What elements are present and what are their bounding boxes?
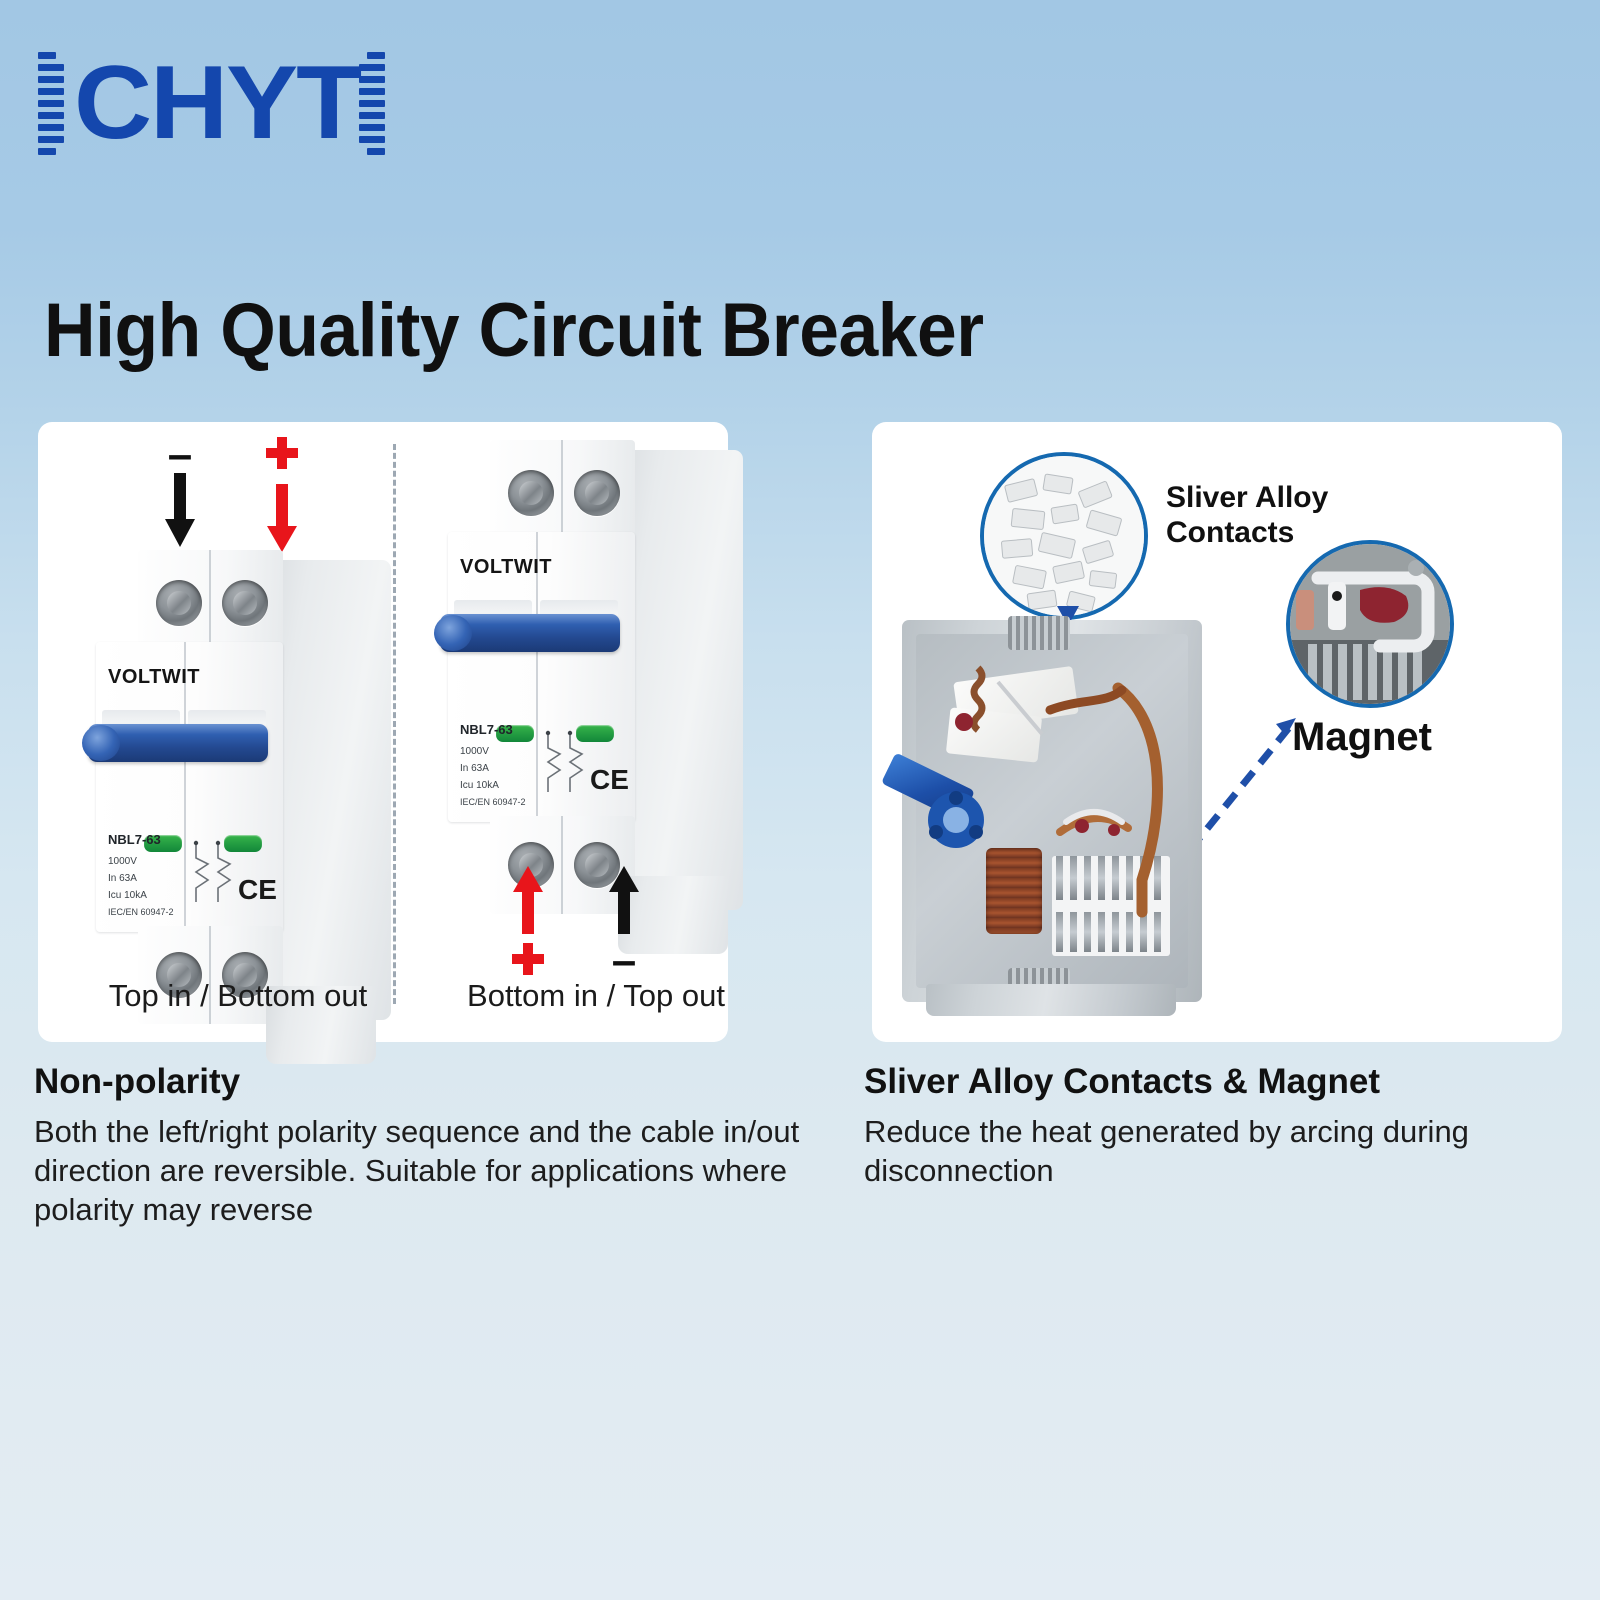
logo-wordmark: CHYT	[74, 56, 360, 152]
breaker-unit-right: VOLTWIT NBL7-63 1000V In 63A Icu 10kA IE…	[438, 440, 743, 960]
spec-line-2-left: In 63A	[108, 873, 137, 884]
spec-line-4-left: IEC/EN 60947-2	[108, 907, 174, 917]
page-title: High Quality Circuit Breaker	[44, 287, 984, 374]
caption-top-in-bottom-out: Top in / Bottom out	[78, 978, 398, 1014]
wiring-diagram-icon-left	[188, 838, 236, 910]
feature-heading-left: Non-polarity	[34, 1062, 240, 1102]
model-label-right: NBL7-63	[460, 722, 513, 737]
arrow-up-black-icon	[606, 864, 642, 936]
spec-line-3-left: Icu 10kA	[108, 890, 147, 901]
spec-line-3-right: Icu 10kA	[460, 780, 499, 791]
arrow-positive-up-right	[506, 864, 550, 984]
arrow-negative-down-left: –	[162, 440, 198, 549]
panel-divider	[393, 444, 396, 1004]
din-rail-clip	[926, 984, 1176, 1016]
arrow-negative-up-right: –	[606, 864, 642, 977]
ce-mark-left: CE	[238, 874, 277, 906]
trip-spring	[938, 660, 1058, 780]
arrow-up-red-icon	[510, 864, 546, 936]
logo-bars-left-icon	[38, 52, 64, 155]
arrow-positive-down-left	[260, 434, 304, 554]
contacts-magnet-illustration-card: Sliver Alloy Contacts Magnet	[872, 422, 1562, 1042]
non-polarity-illustration-card: – VOLTWIT NBL7-63 1000V	[38, 422, 728, 1042]
caption-bottom-in-top-out: Bottom in / Top out	[436, 978, 756, 1014]
brand-mark-left: VOLTWIT	[108, 666, 200, 689]
spec-line-4-right: IEC/EN 60947-2	[460, 797, 526, 807]
feature-body-right: Reduce the heat generated by arcing duri…	[864, 1112, 1564, 1190]
minus-sign-icon: –	[168, 440, 192, 471]
plus-sign-icon	[260, 434, 304, 478]
ce-mark-right: CE	[590, 764, 629, 796]
spec-line-1-right: 1000V	[460, 746, 489, 757]
feature-body-left: Both the left/right polarity sequence an…	[34, 1112, 824, 1229]
brand-logo: CHYT	[38, 52, 385, 155]
minus-sign-icon-2: –	[612, 946, 636, 977]
logo-bars-right-icon	[359, 52, 385, 155]
feature-heading-right: Sliver Alloy Contacts & Magnet	[864, 1062, 1380, 1102]
brand-mark-right: VOLTWIT	[460, 556, 552, 579]
breaker-cutaway-image	[902, 620, 1202, 1002]
spec-line-1-left: 1000V	[108, 856, 137, 867]
handle-pivot-icon	[916, 782, 986, 856]
arrow-down-red-icon	[264, 482, 300, 554]
wiring-diagram-icon-right	[540, 728, 588, 800]
arrow-down-black-icon	[162, 471, 198, 549]
spec-line-2-right: In 63A	[460, 763, 489, 774]
model-label-left: NBL7-63	[108, 832, 161, 847]
terminal-screw-top	[1008, 616, 1070, 650]
